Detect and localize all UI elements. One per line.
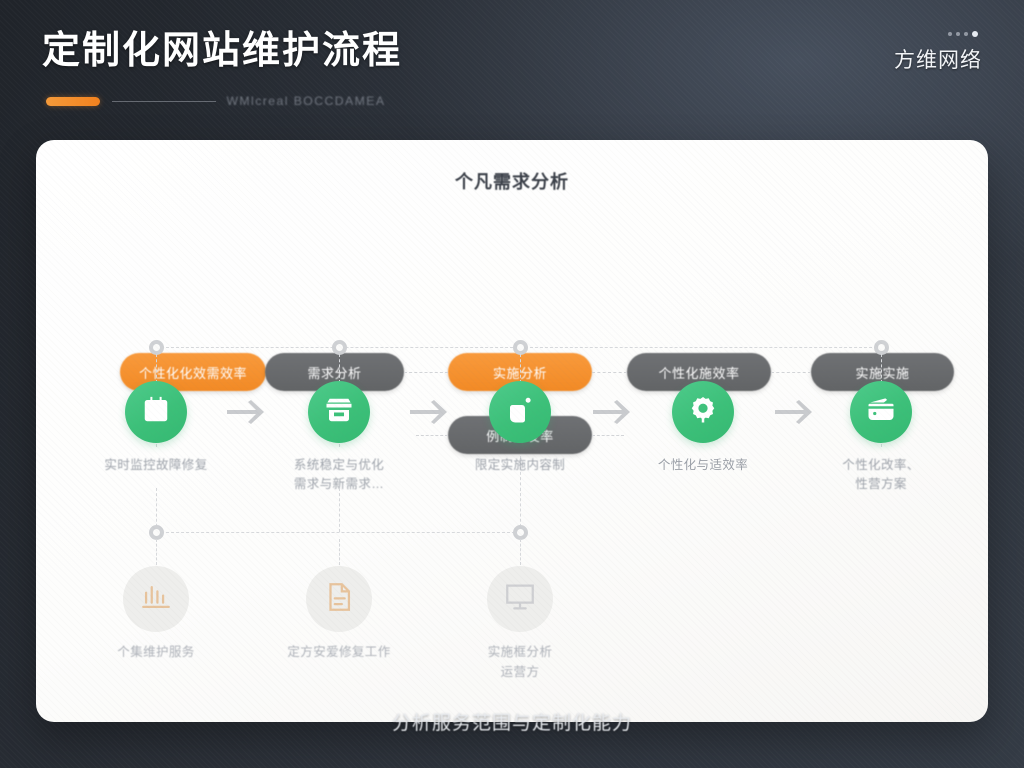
rail-node-2 bbox=[332, 340, 347, 355]
step-circle-5[interactable] bbox=[850, 381, 912, 443]
step-label-4: 个性化与适效率 bbox=[618, 456, 788, 475]
rail-bottom-drop-2 bbox=[339, 539, 340, 565]
page-header: 定制化网站维护流程 WMlcreal BOCCDAMEA 方维网络 bbox=[0, 0, 1024, 130]
pill-link-4 bbox=[771, 372, 811, 373]
bottom-circle-1[interactable] bbox=[123, 566, 189, 632]
step-circle-1[interactable] bbox=[125, 381, 187, 443]
rail-node-b1 bbox=[149, 525, 164, 540]
page-title: 定制化网站维护流程 bbox=[42, 32, 402, 70]
rail-bottom-drop-1 bbox=[156, 539, 157, 565]
step-circle-2[interactable] bbox=[308, 381, 370, 443]
rail-node-5 bbox=[874, 340, 889, 355]
calendar-icon bbox=[141, 395, 171, 430]
bottom-circle-3[interactable] bbox=[487, 566, 553, 632]
arrow-right-icon-1 bbox=[224, 397, 270, 427]
folder-icon bbox=[866, 395, 896, 430]
title-rule-row: WMlcreal BOCCDAMEA bbox=[46, 94, 384, 108]
rail-node-b3 bbox=[513, 525, 528, 540]
report-icon bbox=[322, 580, 356, 619]
archive-icon bbox=[324, 395, 354, 430]
gear-icon bbox=[688, 395, 718, 430]
arrow-right-icon-2 bbox=[407, 397, 453, 427]
pill-sub-link-right bbox=[592, 435, 624, 436]
bottom-circle-2[interactable] bbox=[306, 566, 372, 632]
step-label-3: 限定实施内容制 bbox=[435, 456, 605, 475]
rail-bottom-drop-3 bbox=[520, 539, 521, 565]
brand-logo-text: 方维网络 bbox=[894, 44, 982, 74]
content-card: 个凡需求分析 个性化化效需效率 需求分析 实施分析 个性化施效率 实施实施 例制… bbox=[36, 140, 988, 722]
monitor-icon bbox=[503, 580, 537, 619]
rail-node-1 bbox=[149, 340, 164, 355]
leaf-icon bbox=[505, 395, 535, 430]
bottom-label-3: 实施框分析运营方 bbox=[435, 642, 605, 682]
arrow-right-icon-4 bbox=[772, 397, 818, 427]
step-label-1: 实时监控故障修复 bbox=[71, 456, 241, 475]
chart-icon bbox=[139, 580, 173, 619]
pill-link-2 bbox=[404, 372, 448, 373]
step-circle-3[interactable] bbox=[489, 381, 551, 443]
step-label-5: 个性化改率、性营方案 bbox=[796, 456, 966, 494]
step-circle-4[interactable] bbox=[672, 381, 734, 443]
pill-link-3 bbox=[592, 372, 627, 373]
arrow-right-icon-3 bbox=[590, 397, 636, 427]
bottom-label-1: 个集维护服务 bbox=[71, 642, 241, 662]
footer-caption: 分析服务范围与定制化能力 bbox=[0, 708, 1024, 735]
dots-icon bbox=[948, 31, 978, 37]
pill-sub-link-left bbox=[416, 435, 448, 436]
accent-bar bbox=[46, 97, 100, 106]
rail-bottom-up-2 bbox=[339, 488, 340, 532]
card-title: 个凡需求分析 bbox=[36, 168, 988, 194]
rail-node-3 bbox=[513, 340, 528, 355]
bottom-label-2: 定方安爱修复工作 bbox=[254, 642, 424, 662]
page-subtitle: WMlcreal BOCCDAMEA bbox=[226, 94, 385, 108]
rail-horizontal-bottom bbox=[156, 532, 520, 533]
divider-line bbox=[112, 101, 216, 102]
